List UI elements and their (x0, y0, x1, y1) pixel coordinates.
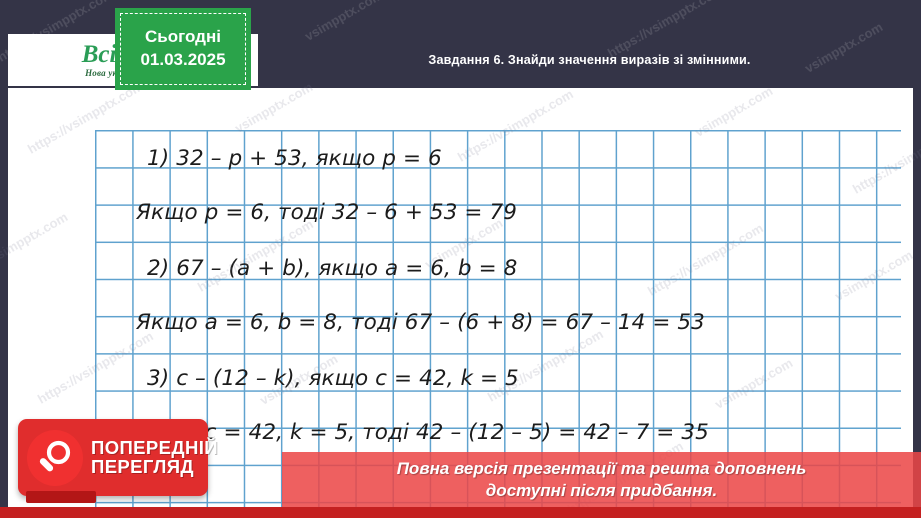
exercise-2-question: 2) 67 – (a + b), якщо a = 6, b = 8 (147, 256, 517, 281)
today-date: 01.03.2025 (140, 49, 225, 72)
today-label: Сьогодні (145, 26, 221, 49)
page-title: Завдання 6. Знайди значення виразів зі з… (428, 53, 750, 67)
exercise-1-question: 1) 32 – p + 53, якщо p = 6 (147, 146, 442, 171)
header-bar: Завдання 6. Знайди значення виразів зі з… (258, 34, 921, 86)
bottom-accent-strip (0, 507, 921, 518)
preview-badge-text: ПОПЕРЕДНІЙ ПЕРЕГЛЯД (91, 439, 218, 477)
purchase-notice-banner: Повна версія презентації та решта доповн… (282, 452, 921, 507)
preview-badge-line2: ПЕРЕГЛЯД (91, 458, 218, 477)
exercise-2-answer: Якщо a = 6, b = 8, тоді 67 – (6 + 8) = 6… (136, 310, 705, 335)
preview-badge: ПОПЕРЕДНІЙ ПЕРЕГЛЯД (18, 419, 208, 496)
purchase-notice-line2: доступні після придбання. (486, 480, 717, 501)
presentation-slide: пс 1) 32 – p + 53, якщо p = 6 Якщо p = 6… (0, 0, 921, 518)
exercise-3-question: 3) c – (12 – k), якщо c = 42, k = 5 (147, 366, 519, 391)
exercise-1-answer: Якщо p = 6, тоді 32 – 6 + 53 = 79 (136, 200, 517, 225)
exercise-3-answer: Якщо c = 42, k = 5, тоді 42 – (12 – 5) =… (136, 420, 709, 445)
purchase-notice-line1: Повна версія презентації та решта доповн… (397, 458, 807, 479)
today-date-badge: Сьогодні 01.03.2025 (115, 8, 251, 90)
badge-shadow (26, 491, 96, 503)
magnifier-icon (27, 430, 83, 486)
preview-badge-line1: ПОПЕРЕДНІЙ (91, 439, 218, 458)
